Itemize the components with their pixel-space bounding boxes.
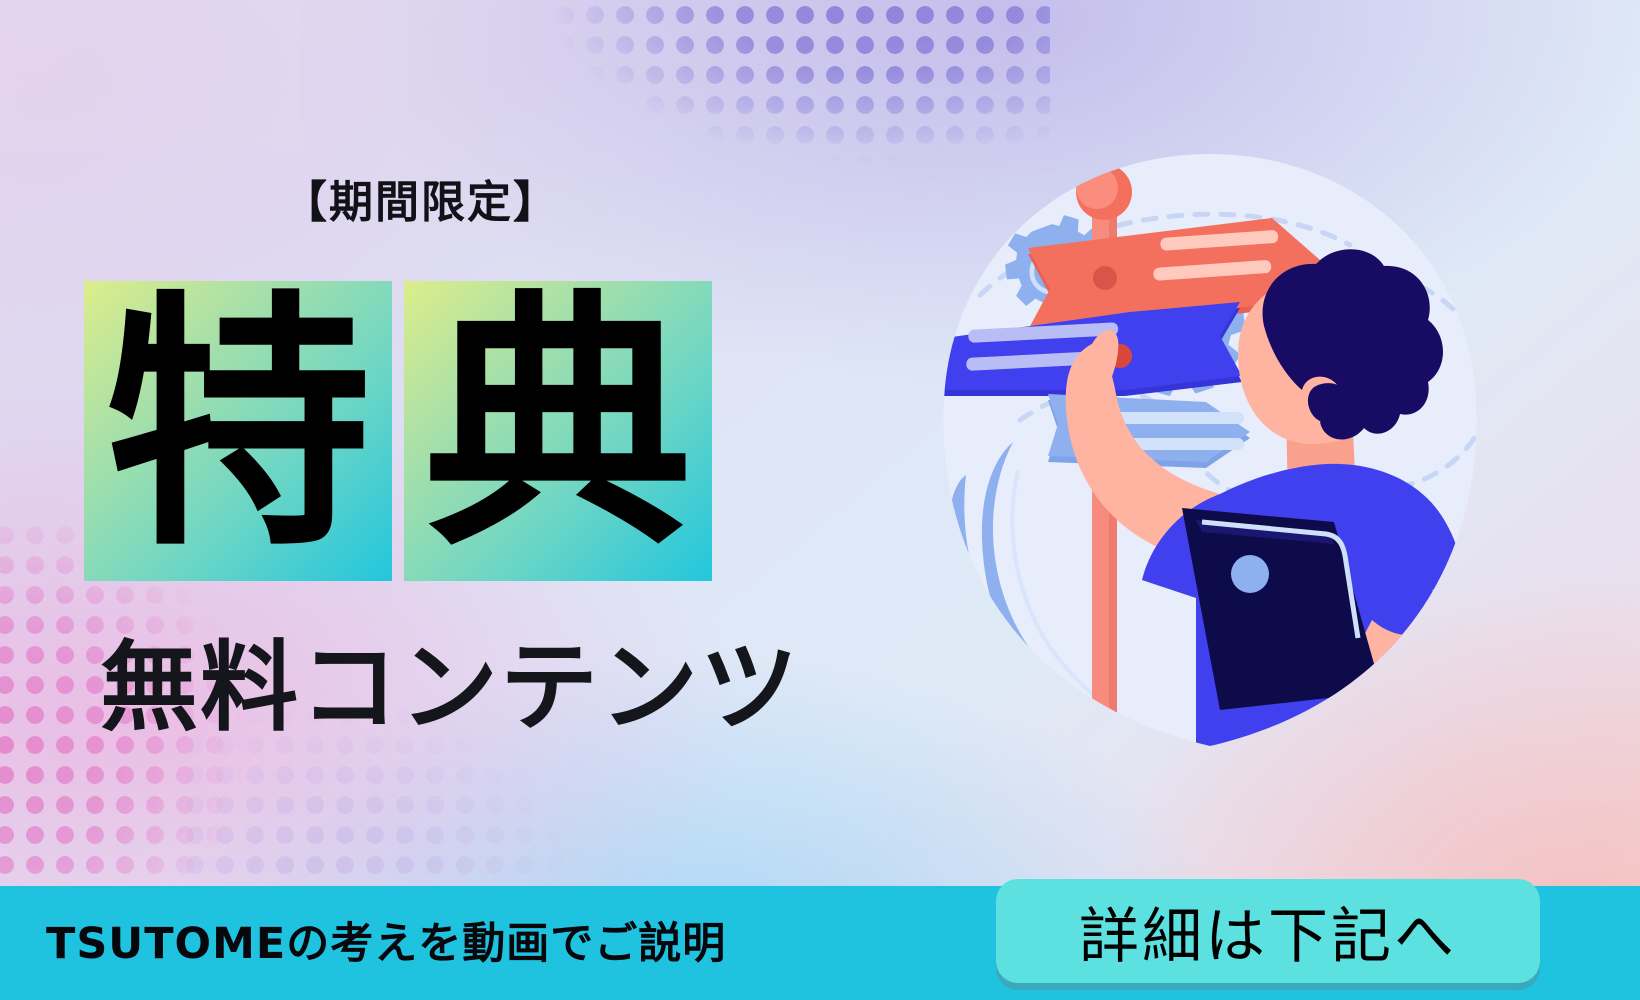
kanji-tile-1: 特 xyxy=(84,281,392,581)
kanji-tile-2: 典 xyxy=(404,281,712,581)
promo-banner: 【期間限定】 特 典 無料コンテンツ xyxy=(0,0,1640,1000)
kanji-tile-group: 特 典 xyxy=(84,281,712,581)
eyebrow-text: 【期間限定】 xyxy=(283,166,559,230)
kanji-tile-1-label: 特 xyxy=(104,317,372,537)
cta-details-label: 詳細は下記へ xyxy=(1079,888,1457,975)
pole-finial xyxy=(1076,164,1132,220)
illustration-person-signpost xyxy=(920,150,1500,750)
cta-details-button[interactable]: 詳細は下記へ xyxy=(996,879,1540,983)
kanji-tile-2-label: 典 xyxy=(424,317,692,537)
subheadline-text: 無料コンテンツ xyxy=(100,608,800,750)
paper-grain-texture xyxy=(0,0,300,150)
footer-caption: TSUTOMEの考えを動画でご説明 xyxy=(46,883,726,997)
